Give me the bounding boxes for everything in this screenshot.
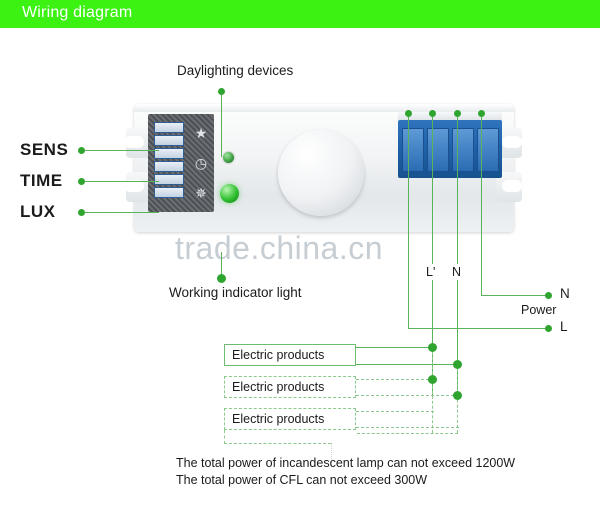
- power-n-dot: [545, 292, 552, 299]
- callout-label-sens: SENS: [20, 140, 68, 160]
- callout-line-time: [85, 181, 159, 182]
- power-line-label-n: N: [560, 286, 570, 301]
- terminal-dot-2: [429, 110, 436, 117]
- terminal-cell-3: [452, 128, 474, 172]
- callout-line-sens: [85, 150, 159, 151]
- dip-switch-panel: ★ ◷ ✵: [148, 114, 214, 212]
- callout-dot-daylighting-devices: [218, 88, 225, 95]
- callout-dot-sens: [78, 147, 85, 154]
- dip-switch-5: [154, 174, 184, 185]
- dip-switch-1: [154, 122, 184, 133]
- footer-notes: The total power of incandescent lamp can…: [176, 455, 515, 489]
- wire-terminal-3-vertical: [457, 117, 458, 264]
- terminal-dot-3: [454, 110, 461, 117]
- terminal-block: [398, 120, 502, 178]
- page-title: Wiring diagram: [22, 4, 132, 22]
- load-bus-bottom-dashed: [357, 433, 458, 434]
- load-2-line-top: [356, 379, 434, 380]
- load-2-line-bottom: [356, 395, 459, 396]
- load-3-line-bottom: [356, 427, 459, 428]
- terminal-label-l-prime: L': [426, 265, 435, 279]
- daylight-sensor-led: [223, 152, 234, 163]
- mount-notch-left-top: [124, 136, 144, 148]
- wiring-diagram-page: Wiring diagram ★ ◷ ✵: [0, 0, 600, 514]
- terminal-dot-1: [405, 110, 412, 117]
- terminal-cell-1: [402, 128, 424, 172]
- callout-label-time: TIME: [20, 171, 63, 191]
- load-box-1: Electric products: [224, 344, 356, 366]
- load-3-line-top: [356, 411, 434, 412]
- power-l-horizontal: [408, 328, 547, 329]
- load-1-line-bottom: [356, 364, 459, 365]
- wire-terminal-4-vertical: [481, 117, 482, 295]
- callout-dot-lux: [78, 209, 85, 216]
- callout-line-lux: [85, 212, 159, 213]
- dip-switch-2: [154, 135, 184, 146]
- load-box-left-drop: [224, 430, 225, 444]
- callout-dot-time: [78, 178, 85, 185]
- load-box-3: Electric products: [224, 408, 356, 430]
- power-group-label: Power: [521, 303, 556, 317]
- junction-dot-n-load-1: [453, 360, 462, 369]
- sun-icon: ✵: [192, 184, 210, 202]
- load-box-3-label: Electric products: [232, 412, 324, 426]
- person-icon: ★: [192, 124, 210, 142]
- junction-dot-n-load-2: [453, 391, 462, 400]
- load-box-2: Electric products: [224, 376, 356, 398]
- load-box-2-label: Electric products: [232, 380, 324, 394]
- dip-switch-4: [154, 161, 184, 172]
- callout-dot-working-indicator: [217, 274, 226, 283]
- power-l-dot: [545, 325, 552, 332]
- dip-switch-6: [154, 187, 184, 198]
- load-bus-l-prime-dashed: [432, 347, 433, 433]
- power-line-label-l: L: [560, 319, 568, 334]
- load-1-line-top: [356, 347, 434, 348]
- working-indicator-led: [220, 184, 239, 203]
- footer-note-1: The total power of incandescent lamp can…: [176, 455, 515, 472]
- terminal-label-n: N: [452, 265, 461, 279]
- callout-label-lux: LUX: [20, 202, 56, 222]
- wire-terminal-2-vertical: [432, 117, 433, 264]
- mount-notch-right-top: [502, 136, 522, 148]
- load-box-1-label: Electric products: [232, 348, 324, 362]
- pir-lens-dome: [278, 130, 364, 216]
- junction-dot-l-prime-load-1: [428, 343, 437, 352]
- wire-terminal-1-vertical: [408, 117, 409, 328]
- mount-notch-right-bottom: [502, 180, 522, 192]
- junction-dot-l-prime-load-2: [428, 375, 437, 384]
- terminal-cell-2: [427, 128, 449, 172]
- load-box-bottom-rail: [224, 443, 331, 444]
- callout-line-working-indicator: [221, 252, 222, 276]
- sensor-device-illustration: ★ ◷ ✵: [126, 100, 522, 236]
- clock-icon: ◷: [192, 154, 210, 172]
- power-n-horizontal: [481, 295, 547, 296]
- footer-note-2: The total power of CFL can not exceed 30…: [176, 472, 515, 489]
- callout-line-daylighting-devices: [221, 95, 222, 157]
- terminal-dot-4: [478, 110, 485, 117]
- callout-label-working-indicator: Working indicator light: [169, 285, 302, 300]
- callout-label-daylighting-devices: Daylighting devices: [177, 63, 293, 78]
